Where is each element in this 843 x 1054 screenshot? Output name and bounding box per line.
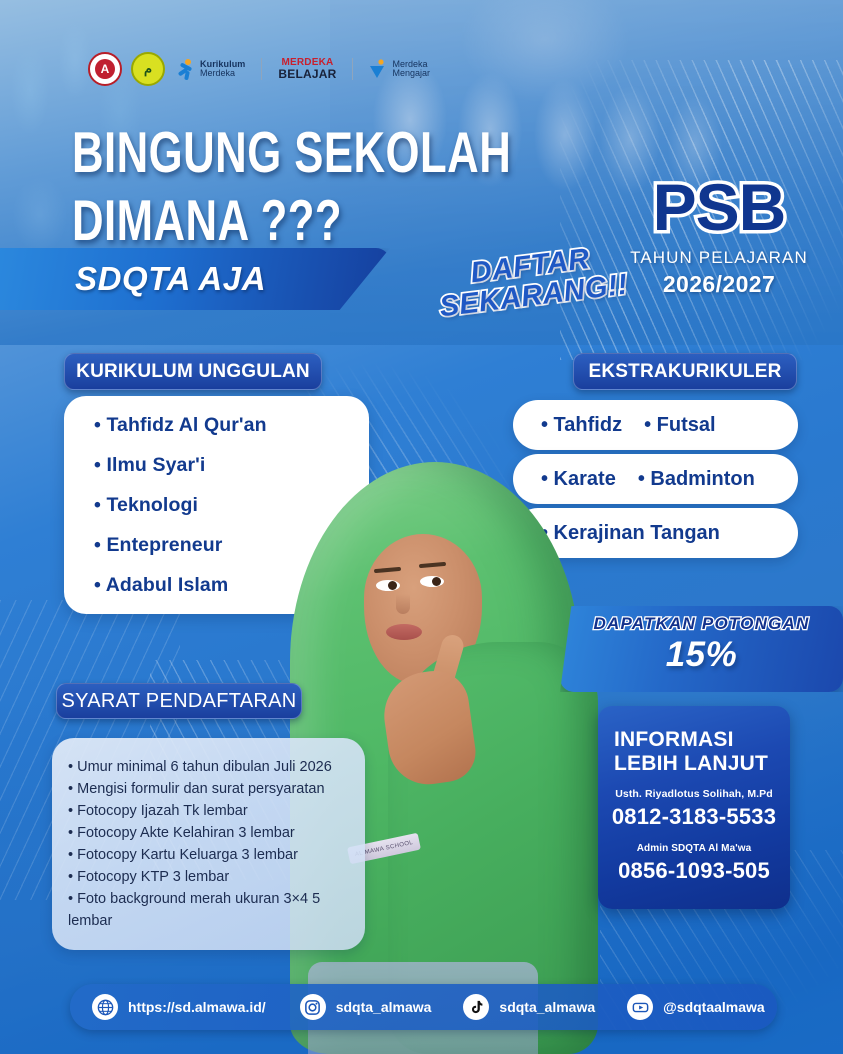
eye-right <box>420 576 444 587</box>
footer-website-label: https://sd.almawa.id/ <box>128 999 266 1015</box>
list-item: Fotocopy Akte Kelahiran 3 lembar <box>68 822 351 844</box>
merdeka-mengajar-icon <box>369 59 387 79</box>
footer-tiktok-link[interactable]: sdqta_almawa <box>463 994 595 1020</box>
globe-icon <box>92 994 118 1020</box>
merdeka-belajar-line2: BELAJAR <box>278 68 336 80</box>
contact-2-name: Admin SDQTA Al Ma'wa <box>598 843 790 854</box>
list-item: Mengisi formulir dan surat persyaratan <box>68 778 351 800</box>
footer-youtube-link[interactable]: @sdqtaalmawa <box>627 994 765 1020</box>
contact-2-phone[interactable]: 0856-1093-505 <box>598 858 790 884</box>
list-item: Umur minimal 6 tahun dibulan Juli 2026 <box>68 756 351 778</box>
ekstrakurikuler-header-pill: EKSTRAKURIKULER <box>573 353 797 390</box>
merdeka-mengajar-line2: Mengajar <box>392 69 430 78</box>
logo-divider-1 <box>261 58 262 80</box>
tiktok-icon <box>463 994 489 1020</box>
headline-line-1: BINGUNG SEKOLAH <box>72 122 556 184</box>
list-item: Tahfidz Al Qur'an <box>94 414 369 437</box>
lips <box>386 624 422 640</box>
syarat-list: Umur minimal 6 tahun dibulan Juli 2026 M… <box>68 756 351 932</box>
kurikulum-merdeka-logo: Kurikulum Merdeka <box>178 59 245 79</box>
headline-line-2: DIMANA ??? <box>72 190 556 252</box>
footer-instagram-label: sdqta_almawa <box>336 999 432 1015</box>
logo-divider-2 <box>352 58 353 80</box>
psb-block: PSB TAHUN PELAJARAN 2026/2027 <box>619 176 819 298</box>
sdqta-banner: SDQTA AJA <box>0 248 390 310</box>
merdeka-mengajar-logo: Merdeka Mengajar <box>369 59 430 79</box>
headline-block: BINGUNG SEKOLAH DIMANA ??? <box>72 122 592 241</box>
eye-left <box>376 580 400 591</box>
syarat-header-pill: SYARAT PENDAFTARAN <box>56 683 302 719</box>
footer-website-link[interactable]: https://sd.almawa.id/ <box>92 994 266 1020</box>
list-item: Fotocopy KTP 3 lembar <box>68 866 351 888</box>
kurikulum-merdeka-text: Kurikulum Merdeka <box>200 60 245 78</box>
ekstra-item-b: • Futsal <box>644 414 715 437</box>
discount-banner: DAPATKAN POTONGAN 15% <box>560 606 843 692</box>
kurikulum-merdeka-icon <box>178 59 195 79</box>
syarat-card: Umur minimal 6 tahun dibulan Juli 2026 M… <box>52 738 365 950</box>
yayasan-logo: م <box>131 52 165 86</box>
kurikulum-title: KURIKULUM UNGGULAN <box>76 361 310 383</box>
sdqta-banner-label: SDQTA AJA <box>75 260 266 298</box>
ekstra-item-a: • Tahfidz <box>541 414 622 437</box>
merdeka-belajar-logo: MERDEKA BELAJAR <box>278 58 336 80</box>
list-item: Foto background merah ukuran 3×4 5 lemba… <box>68 888 351 932</box>
instagram-icon <box>300 994 326 1020</box>
discount-label: DAPATKAN POTONGAN <box>560 614 843 634</box>
poster-root: A م Kurikulum Merdeka MERDEKA BELAJAR <box>0 0 843 1054</box>
footer-tiktok-label: sdqta_almawa <box>499 999 595 1015</box>
al-mawa-school-logo: A <box>88 52 122 86</box>
list-item: Fotocopy Kartu Keluarga 3 lembar <box>68 844 351 866</box>
psb-year: 2026/2027 <box>619 271 819 298</box>
merdeka-mengajar-text: Merdeka Mengajar <box>392 60 430 79</box>
youtube-icon <box>627 994 653 1020</box>
discount-value: 15% <box>560 635 843 675</box>
list-item: • Tahfidz • Futsal <box>513 400 798 450</box>
ekstra-item-b: • Badminton <box>638 468 755 491</box>
syarat-title: SYARAT PENDAFTARAN <box>61 690 296 713</box>
yayasan-logo-glyph: م <box>144 61 152 77</box>
kurikulum-merdeka-line2: Merdeka <box>200 69 245 78</box>
al-mawa-logo-glyph: A <box>95 59 115 79</box>
psb-subtitle: TAHUN PELAJARAN <box>619 248 819 268</box>
contact-1-phone[interactable]: 0812-3183-5533 <box>598 804 790 830</box>
ekstrakurikuler-title: EKSTRAKURIKULER <box>589 361 782 383</box>
footer-youtube-label: @sdqtaalmawa <box>663 999 765 1015</box>
footer-instagram-link[interactable]: sdqta_almawa <box>300 994 432 1020</box>
footer-bar: https://sd.almawa.id/ sdqta_almawa sdqta… <box>70 984 777 1030</box>
nose <box>396 594 410 614</box>
psb-acronym: PSB <box>619 176 819 239</box>
contact-1-name: Usth. Riyadlotus Solihah, M.Pd <box>598 788 790 800</box>
logo-row: A م Kurikulum Merdeka MERDEKA BELAJAR <box>88 52 430 86</box>
kurikulum-header-pill: KURIKULUM UNGGULAN <box>64 353 322 390</box>
informasi-title-line1: INFORMASI <box>598 728 790 752</box>
informasi-title-line2: LEBIH LANJUT <box>598 752 790 776</box>
informasi-box: INFORMASI LEBIH LANJUT Usth. Riyadlotus … <box>598 706 790 909</box>
list-item: Fotocopy Ijazah Tk lembar <box>68 800 351 822</box>
